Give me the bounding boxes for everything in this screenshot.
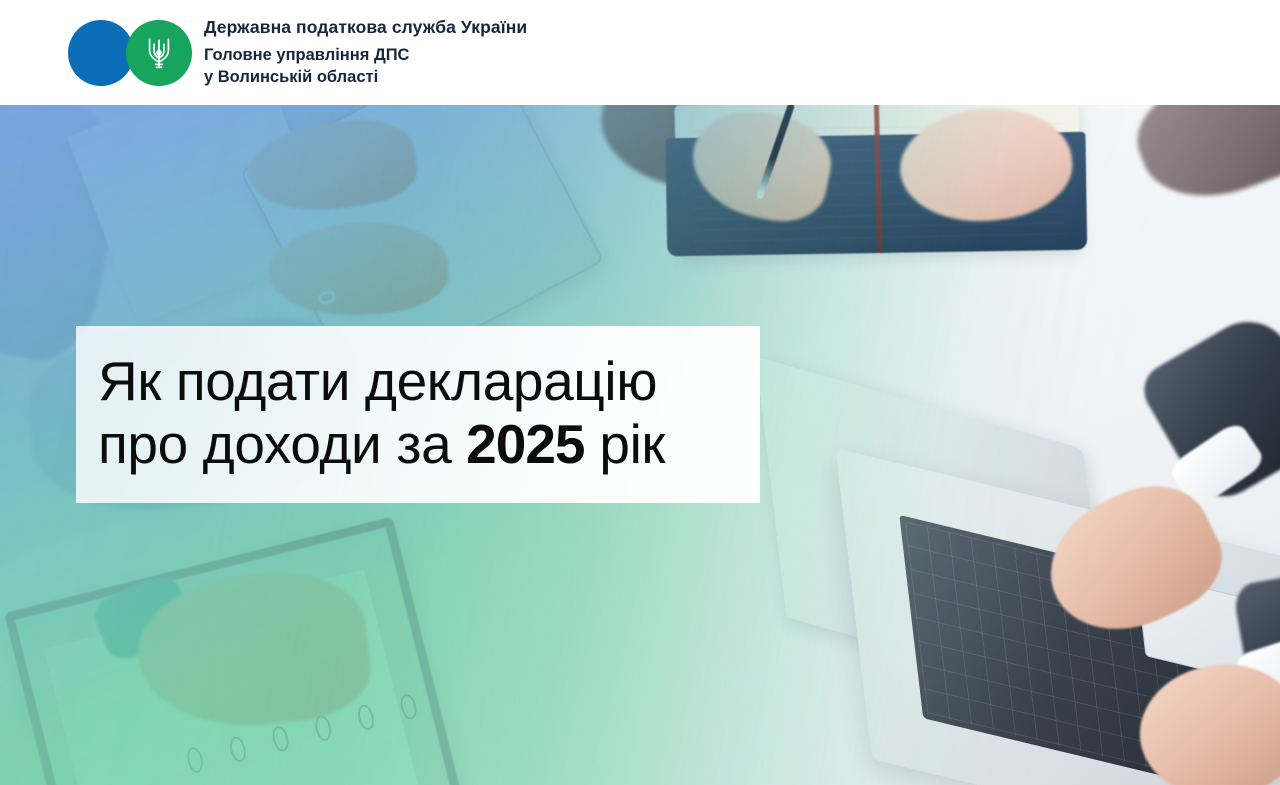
logo-blue-circle-icon <box>68 20 134 86</box>
department-name-line1: Головне управління ДПС <box>204 44 527 66</box>
organization-name: Державна податкова служба України <box>204 17 527 39</box>
logo-green-circle-icon <box>126 20 192 86</box>
hero-title-prefix: про доходи за <box>98 413 466 475</box>
hero-title-year: 2025 <box>466 413 584 475</box>
hero-title-suffix: рік <box>585 413 666 475</box>
dps-logo[interactable] <box>68 20 192 86</box>
ukraine-trident-icon <box>145 36 173 70</box>
hero-banner: Як подати декларацію про доходи за 2025 … <box>0 105 1280 785</box>
title-panel: Як подати декларацію про доходи за 2025 … <box>76 326 760 503</box>
department-name-line2: у Волинській області <box>204 66 527 88</box>
brand-block[interactable]: Державна податкова служба України Головн… <box>68 17 527 88</box>
hero-title-line-1: Як подати декларацію <box>98 350 738 413</box>
hero-title-line-2: про доходи за 2025 рік <box>98 413 738 476</box>
poster-page: Державна податкова служба України Головн… <box>0 0 1280 785</box>
site-header: Державна податкова служба України Головн… <box>0 0 1280 105</box>
brand-text-block: Державна податкова служба України Головн… <box>204 17 527 88</box>
